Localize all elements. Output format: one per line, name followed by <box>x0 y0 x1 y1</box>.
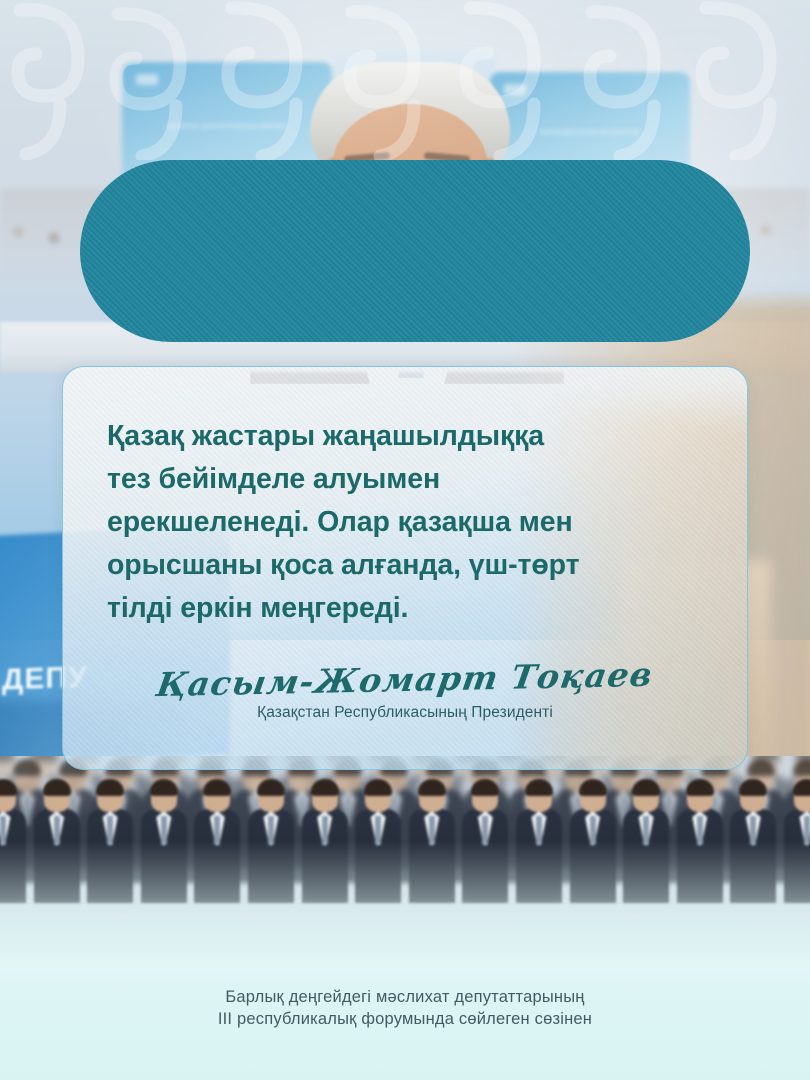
quote-text: Қазақ жастары жаңашылдыққа тез бейімделе… <box>107 415 703 630</box>
quote-line: тез бейімделе алуымен <box>107 463 440 495</box>
caption-line-1: Барлық деңгейдегі мәслихат депутаттарыны… <box>225 986 584 1008</box>
signature: Қасым-Жомарт Тоқаев <box>154 654 656 706</box>
forum-logo-left-icon <box>136 74 158 85</box>
quote-poster: МӘСЛИХАТ ДЕПУТАТТАРЫНЫҢ ФОРУМЫ ФОРУМ ДЕП… <box>0 0 810 1080</box>
quote-content: Қазақ жастары жаңашылдыққа тез бейімделе… <box>63 367 747 630</box>
quote-card: Қазақ жастары жаңашылдыққа тез бейімделе… <box>62 366 748 770</box>
quote-line: ерекшеленеді. Олар қазақша мен <box>107 506 573 538</box>
quote-line: Қазақ жастары жаңашылдыққа <box>107 420 544 452</box>
caption-line-2: III республикалық форумында сөйлеген сөз… <box>218 1008 592 1030</box>
attribution-block: Қасым-Жомарт Тоқаев Қазақстан Республика… <box>63 659 747 723</box>
signature-role: Қазақстан Республикасының Президенті <box>63 703 747 723</box>
teal-accent-panel <box>80 160 750 342</box>
quote-line: орысшаны қоса алғанда, үш-төрт <box>107 549 579 581</box>
quote-line: тілді еркін меңгереді. <box>107 592 408 624</box>
caption-band: Барлық деңгейдегі мәслихат депутаттарыны… <box>0 960 810 1080</box>
